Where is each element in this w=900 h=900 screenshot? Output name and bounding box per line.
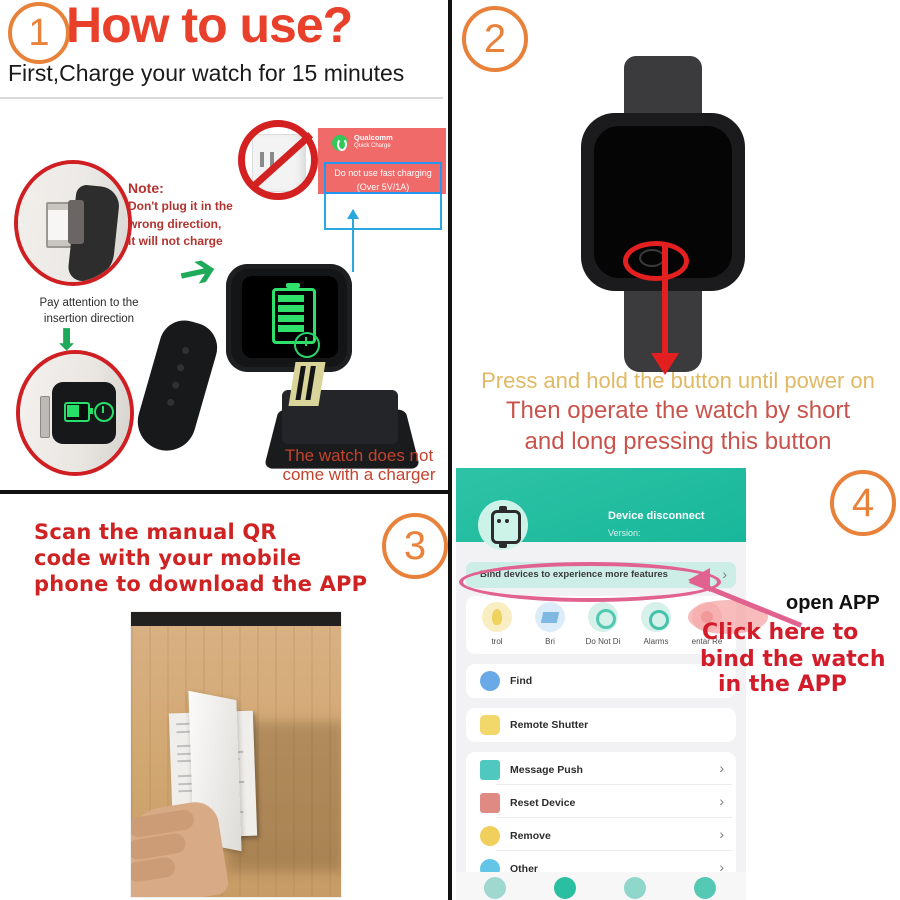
reset-device-icon: [480, 793, 500, 813]
panel-2-step-number: 2: [462, 6, 528, 72]
tab-icon-4[interactable]: [694, 877, 716, 899]
shortcut-item-3[interactable]: Alarms: [629, 602, 683, 646]
no-charger-line-2: come with a charger: [268, 465, 450, 484]
qualcomm-quick-charge-badge: Qualcomm Quick Charge: [332, 132, 442, 158]
panel-3-headline-line-2: code with your mobile: [34, 546, 384, 570]
app-tab-bar: [456, 872, 746, 900]
shortcut-item-0[interactable]: trol: [470, 602, 524, 646]
qualcomm-brand-label: Qualcomm: [354, 133, 393, 142]
camera-icon: [480, 715, 500, 735]
qualcomm-logo-icon: [332, 135, 348, 151]
row-label-2: Message Push: [510, 764, 583, 776]
watch-avatar-icon: [478, 500, 528, 550]
tab-icon-3[interactable]: [624, 877, 646, 899]
version-label: Version:: [608, 528, 641, 538]
tab-icon-2[interactable]: [554, 877, 576, 899]
panel-3-scan-qr: Scan the manual QR code with your mobile…: [0, 497, 450, 900]
list-item-find[interactable]: Find: [466, 664, 736, 698]
pink-arrow-head-icon: [688, 568, 710, 592]
usb-port-icon: [40, 396, 50, 438]
row-label-0: Find: [510, 675, 532, 687]
find-icon: [480, 671, 500, 691]
alarms-icon: [641, 602, 671, 632]
chevron-right-icon: ›: [719, 760, 724, 776]
panel-vertical-divider: [448, 0, 452, 900]
plug-contacts: [68, 200, 84, 244]
brightness-icon: [535, 602, 565, 632]
bind-row-highlight-ellipse: [459, 562, 721, 602]
app-screenshot: Device disconnect Version: Bind devices …: [456, 468, 746, 900]
power-icon: [94, 402, 114, 422]
usb-port-photo-correct-direction: [16, 350, 134, 476]
panel-3-step-number: 3: [382, 513, 448, 579]
panel-2-line-3: and long pressing this button: [456, 428, 900, 456]
watch-face: [226, 264, 352, 372]
shortcut-label-1: Bri: [523, 637, 577, 646]
power-icon: [294, 332, 320, 358]
manual-photo: [130, 611, 342, 898]
watch-strap: [131, 315, 223, 458]
warning-line-2: (Over 5V/1A): [357, 182, 410, 192]
photo-top-edge: [131, 612, 341, 626]
instruction-infographic: 1 How to use? First,Charge your watch fo…: [0, 0, 900, 900]
divider: [0, 97, 443, 99]
divider: [496, 784, 732, 785]
no-fast-charging-warning: Qualcomm Quick Charge Do not use fast ch…: [238, 120, 448, 210]
usb-port-photo-wrong-direction: [14, 160, 132, 286]
click-here-annotation-line-3: in the APP: [718, 672, 847, 697]
panel-1-subtitle: First,Charge your watch for 15 minutes: [8, 60, 404, 87]
panel-3-headline-line-3: phone to download the APP: [34, 572, 384, 596]
red-down-arrow-icon: [662, 245, 668, 363]
row-label-4: Remove: [510, 830, 551, 842]
unlink-icon: [480, 826, 500, 846]
page-title: How to use?: [66, 0, 352, 54]
divider: [496, 817, 732, 818]
do-not-fast-charge-text: Do not use fast charging (Over 5V/1A): [324, 162, 442, 194]
battery-icon: [64, 402, 90, 422]
qualcomm-sub-label: Quick Charge: [354, 143, 391, 151]
do-not-disturb-icon: [588, 602, 618, 632]
row-label-3: Reset Device: [510, 797, 575, 809]
panel-3-headline-line-1: Scan the manual QR: [34, 520, 384, 544]
shortcut-label-3: Alarms: [629, 637, 683, 646]
shortcut-item-1[interactable]: Bri: [523, 602, 577, 646]
settings-list-group: Message Push › Reset Device › Remove ›: [466, 752, 736, 884]
message-push-icon: [480, 760, 500, 780]
shortcut-item-2[interactable]: Do Not Di: [576, 602, 630, 646]
no-charger-line-1: The watch does not: [268, 446, 450, 465]
shortcut-label-2: Do Not Di: [576, 637, 630, 646]
panel-2-line-1: Press and hold the button until power on: [456, 368, 900, 394]
panel-horizontal-divider: [0, 490, 450, 494]
note-text: Note: Don't plug it in the wrong directi…: [128, 178, 233, 250]
panel-2-line-2: Then operate the watch by short: [456, 397, 900, 425]
watch-screen: [242, 276, 338, 358]
chevron-right-icon: ›: [719, 793, 724, 809]
device-status-label: Device disconnect: [608, 510, 705, 522]
control-icon: [482, 602, 512, 632]
panel-4-step-number: 4: [830, 470, 896, 536]
click-here-annotation-line-2: bind the watch: [700, 647, 886, 672]
list-item-remote-shutter[interactable]: Remote Shutter: [466, 708, 736, 742]
panel-1-step-number: 1: [8, 2, 70, 64]
warning-line-1: Do not use fast charging: [334, 168, 432, 178]
prohibition-icon: [238, 120, 318, 200]
hand-holding-manual: [130, 799, 230, 898]
divider: [496, 850, 732, 851]
open-app-annotation: open APP: [786, 592, 880, 615]
no-charger-caption: The watch does not come with a charger: [268, 446, 450, 484]
note-heading: Note:: [128, 178, 233, 198]
panel-1-how-to-use: 1 How to use? First,Charge your watch fo…: [0, 0, 450, 494]
chevron-right-icon: ›: [722, 566, 727, 582]
watch-body: [52, 382, 116, 444]
panel-2-power-on: 2 Press and hold the button until power …: [452, 0, 900, 462]
tab-icon-1[interactable]: [484, 877, 506, 899]
note-line-3: it will not charge: [128, 234, 223, 248]
chevron-right-icon: ›: [719, 826, 724, 842]
button-highlight-ellipse: [623, 241, 689, 281]
note-line-2: wrong direction,: [128, 217, 221, 231]
shortcut-label-0: trol: [470, 637, 524, 646]
note-line-1: Don't plug it in the: [128, 199, 233, 213]
green-down-arrow-icon: ⬇: [54, 326, 79, 356]
click-here-annotation-line-1: Click here to: [702, 620, 858, 645]
row-label-1: Remote Shutter: [510, 719, 588, 731]
